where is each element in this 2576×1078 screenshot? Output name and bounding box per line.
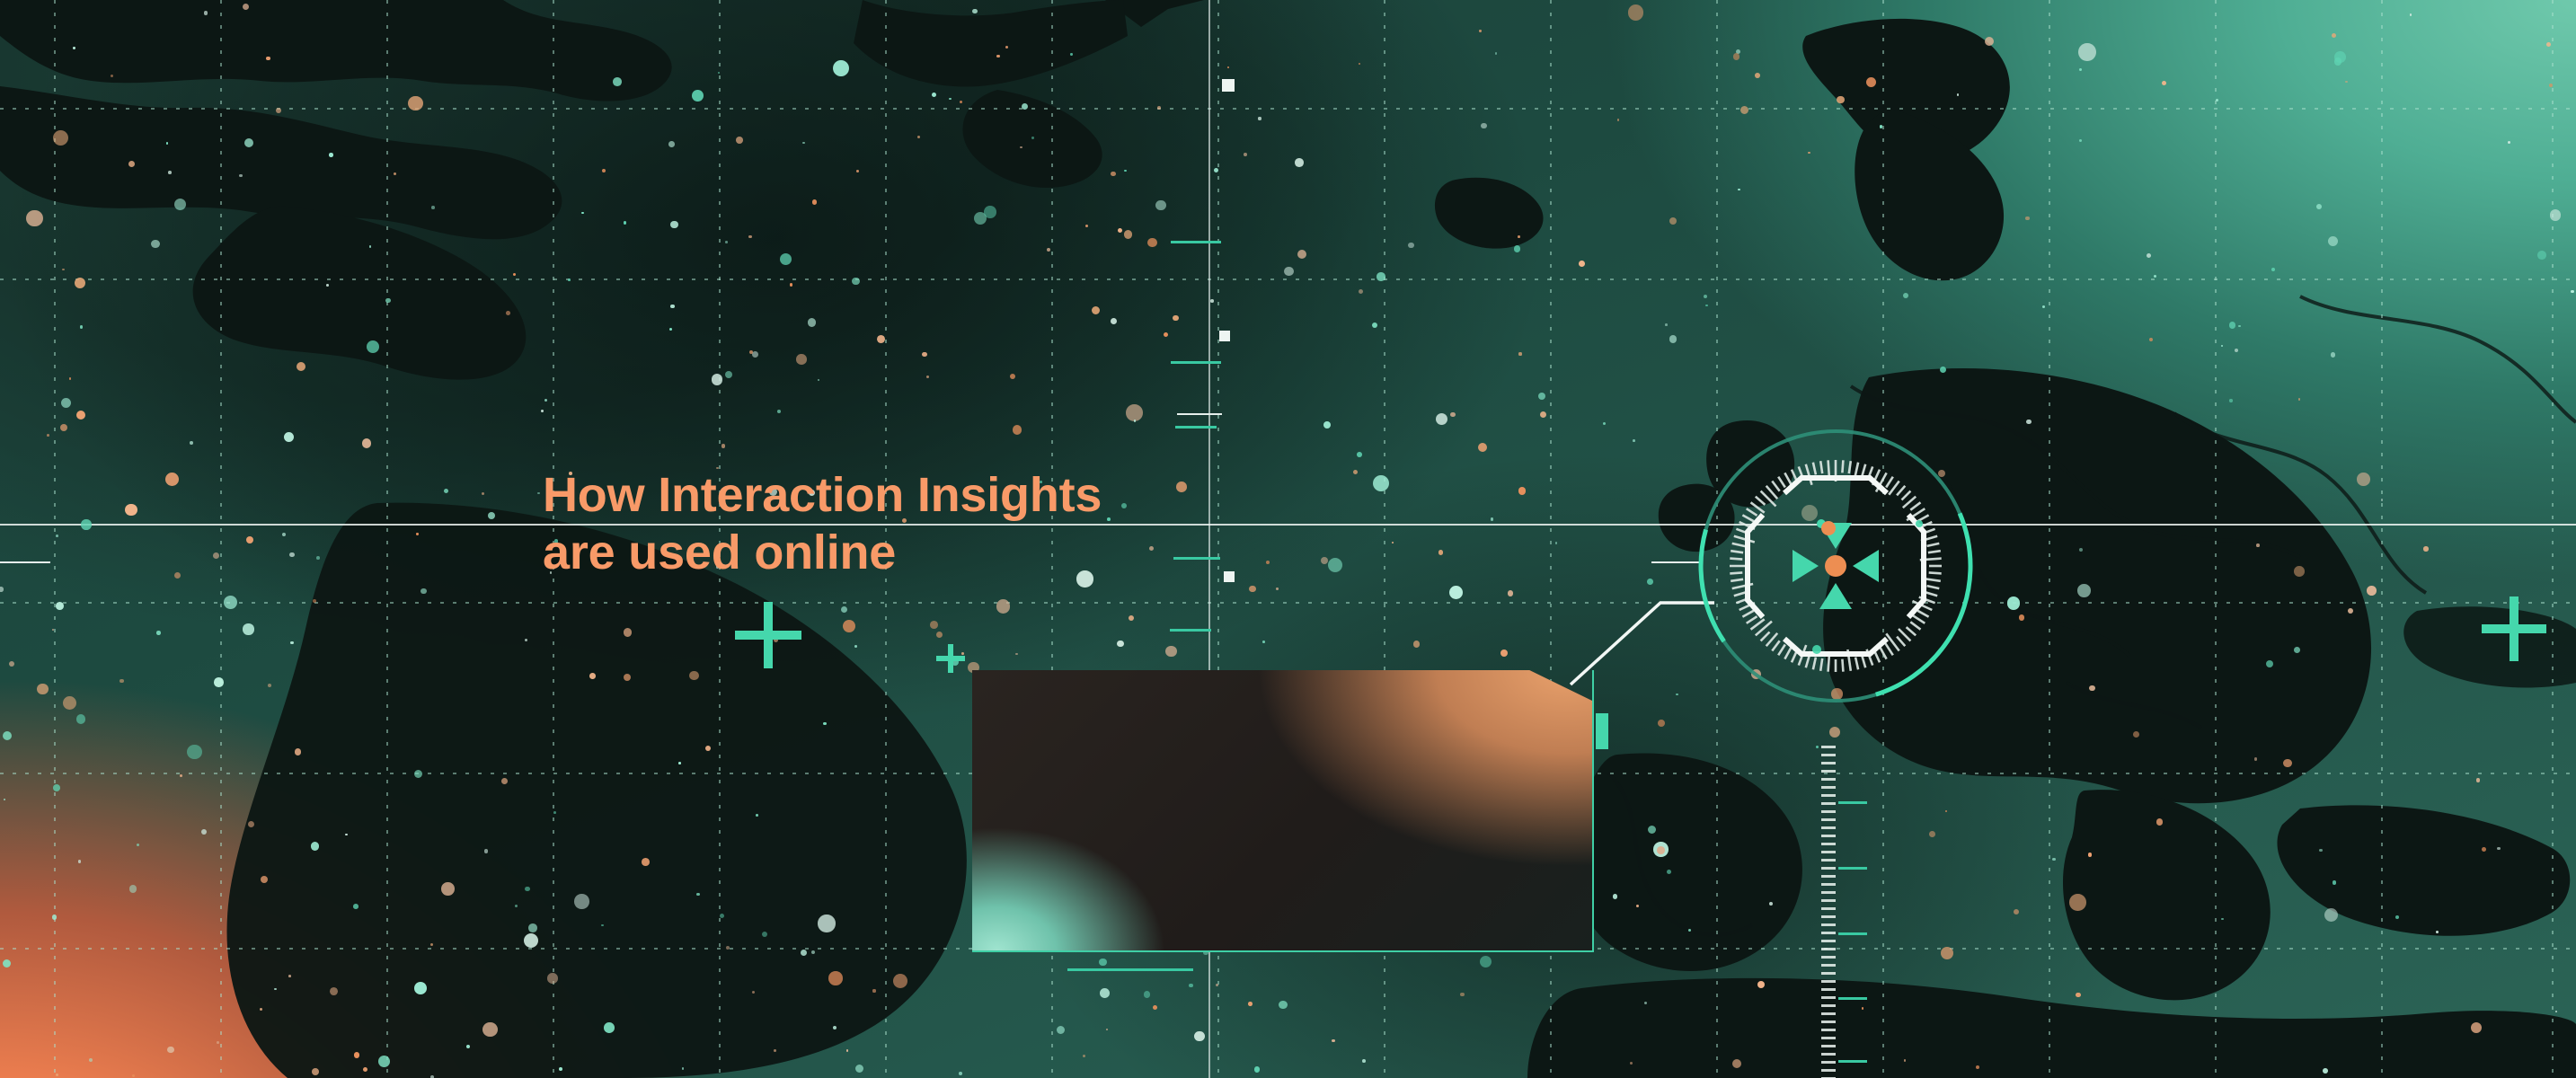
- crosshair-markers: [0, 0, 2576, 1078]
- crosshair-vertical-bar: [948, 644, 953, 673]
- crosshair-marker-small: [936, 644, 965, 673]
- crosshair-vertical-bar: [2510, 596, 2518, 661]
- page-title: How Interaction Insights are used online: [543, 467, 1102, 581]
- map-infographic-canvas: How Interaction Insights are used online: [0, 0, 2576, 1078]
- crosshair-vertical-bar: [764, 602, 773, 668]
- crosshair-marker-right: [2482, 596, 2546, 661]
- crosshair-marker-large: [735, 602, 801, 668]
